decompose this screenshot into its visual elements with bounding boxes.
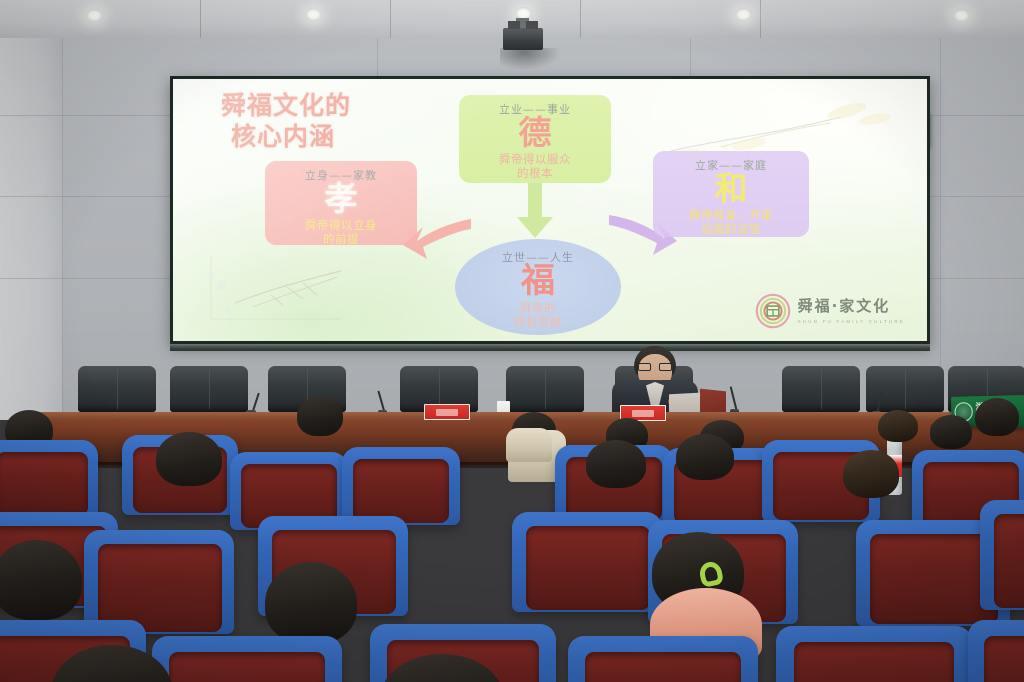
node-keyword: 福 [455, 264, 621, 299]
node-sub-line2: 治国的法宝 [653, 222, 809, 236]
brand-tagline: SHUN FU FAMILY CULTURE [798, 319, 905, 324]
branch-decoration-icon [191, 247, 391, 327]
ceiling-seam [200, 0, 201, 40]
node-sub-line1: 舜帝得以服众 [459, 152, 611, 166]
brand-mark-icon [755, 293, 791, 329]
audience-seat [0, 440, 98, 518]
screen-bottom-casing [170, 344, 930, 351]
audience-seat [776, 626, 972, 682]
side-wall [0, 38, 62, 420]
glasses-lens [659, 363, 672, 371]
audience-head [297, 396, 343, 436]
audience-seat [980, 500, 1024, 610]
slide-node-xiao: 立身——家教 孝 舜帝得以立身 的前提 [265, 161, 417, 245]
audience-seat [512, 512, 662, 612]
name-card-text [632, 410, 654, 417]
ceiling-downlight [953, 9, 970, 22]
wall-seam [940, 38, 941, 420]
node-keyword: 孝 [265, 182, 417, 216]
glasses-icon [638, 363, 672, 371]
audience-head [676, 434, 734, 480]
node-sub-line1: 舜帝修身、齐家 [653, 208, 809, 222]
slide-brand-logo: 舜福·家文化 SHUN FU FAMILY CULTURE [755, 293, 905, 329]
brand-text-block: 舜福·家文化 SHUN FU FAMILY CULTURE [798, 298, 905, 324]
audience-head [0, 540, 82, 620]
audience-seat [84, 530, 234, 634]
stage-chair [782, 366, 860, 412]
node-sub-line2: 的根本 [459, 166, 611, 180]
slide-title: 舜福文化的 核心内涵 [221, 91, 461, 152]
wall-seam [377, 38, 378, 78]
audience-seat [968, 620, 1024, 682]
audience-seat [342, 447, 460, 525]
ceiling-downlight [86, 9, 103, 22]
node-sub-line1: 舜帝的 [455, 301, 621, 315]
stage-chair [170, 366, 248, 412]
slide-surface: 舜福文化的 核心内涵 立身——家教 孝 舜帝得以立身 的前提 立业——事业 [173, 79, 927, 341]
stage-chair [78, 366, 156, 412]
audience-seat [152, 636, 342, 682]
node-sub-line1: 舜帝得以立身 [265, 218, 417, 232]
node-sub-line2: 的前提 [265, 232, 417, 246]
name-card-text [436, 409, 458, 416]
slide-node-fu: 立世——人生 福 舜帝的 终极贡献 [455, 239, 621, 335]
audience-seat [568, 636, 758, 682]
ceiling-projector-icon [503, 28, 543, 50]
projector-shadow [500, 48, 560, 70]
brand-name: 舜福·家文化 [798, 297, 891, 315]
ceiling-seam [390, 0, 391, 40]
audience-coat [506, 428, 552, 462]
arrow-down-icon [515, 183, 555, 239]
lecture-hall-photo: 舜福文化的 核心内涵 立身——家教 孝 舜帝得以立身 的前提 立业——事业 [0, 0, 1024, 682]
slide-title-line1: 舜福文化的 [221, 91, 351, 120]
node-keyword: 和 [653, 172, 809, 206]
projection-screen: 舜福文化的 核心内涵 立身——家教 孝 舜帝得以立身 的前提 立业——事业 [170, 76, 930, 344]
audience-head [586, 440, 646, 488]
node-keyword: 德 [459, 116, 611, 150]
ceiling-seam [580, 0, 581, 40]
audience-head [878, 410, 918, 442]
ceiling-downlight [735, 8, 752, 21]
audience-head [930, 415, 972, 449]
audience-head [975, 398, 1019, 436]
slide-node-he: 立家——家庭 和 舜帝修身、齐家 治国的法宝 [653, 151, 809, 237]
name-card [424, 404, 470, 420]
slide-node-de: 立业——事业 德 舜帝得以服众 的根本 [459, 95, 611, 183]
wall-seam [690, 38, 691, 78]
wall-seam [62, 38, 63, 420]
audience-head [156, 432, 222, 486]
ceiling-seam [760, 0, 761, 40]
glasses-lens [638, 363, 651, 371]
audience-head [265, 562, 357, 644]
slide-title-line2: 核心内涵 [231, 122, 461, 153]
ceiling-downlight [305, 8, 322, 21]
node-sub-line2: 终极贡献 [455, 315, 621, 329]
audience-head [843, 450, 899, 498]
stage-chair [506, 366, 584, 412]
